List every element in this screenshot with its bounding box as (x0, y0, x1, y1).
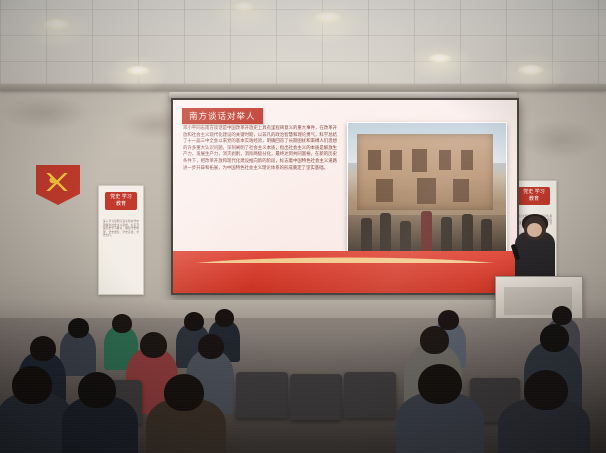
slide-gold-wave (173, 237, 517, 263)
slide-title: 南方谈话对举人 (182, 108, 263, 124)
hammer-sickle-icon (46, 173, 68, 191)
ceiling-light-6 (233, 2, 255, 11)
photo-scene: 党史 学习教育 深入学习贯彻习近平新时代中国特色社会主义思想，扎实开展党史学习教… (0, 0, 606, 453)
slide-photo-building (357, 134, 493, 211)
student-3b-head (418, 364, 462, 404)
slide: 南方谈话对举人 邓小平同志南方谈话是中国改革开放史上具有里程碑意义的重大事件，在… (173, 100, 517, 293)
presenter-face (527, 223, 542, 237)
poster-left-1: 党史 学习教育 深入学习贯彻习近平新时代中国特色社会主义思想，扎实开展党史学习教… (98, 185, 144, 295)
ceiling-light-5 (518, 65, 544, 75)
ceiling-light-1 (44, 19, 70, 30)
slide-body-text: 邓小平同志南方谈话是中国改革开放史上具有里程碑意义的重大事件，在改革开放和社会主… (183, 126, 337, 172)
student-5-head (215, 309, 234, 327)
slide-photo (347, 122, 507, 256)
ceiling-light-4 (428, 54, 452, 63)
slide-photo-window (368, 150, 380, 170)
student-12-head (164, 374, 204, 411)
student-13-head (12, 366, 52, 404)
student-4-head (140, 332, 167, 358)
slide-photo-window (376, 179, 392, 202)
slide-photo-window (453, 179, 469, 202)
student-14b-head (524, 370, 568, 410)
student-9-head (78, 372, 116, 408)
student-14-head (552, 306, 572, 325)
projection-screen: 南方谈话对举人 邓小平同志南方谈话是中国改革开放史上具有里程碑意义的重大事件，在… (171, 98, 519, 295)
slide-photo-window (461, 150, 473, 170)
slide-photo-window (439, 150, 451, 170)
student-3-head (68, 318, 89, 338)
wall-stain-3 (0, 96, 90, 130)
chair-1 (236, 372, 288, 418)
student-7-head (184, 312, 204, 331)
poster-right-2-header: 党史 学习教育 (518, 187, 550, 205)
slide-photo-window (417, 178, 436, 204)
chair-3 (344, 372, 396, 418)
chair-2 (290, 374, 342, 420)
student-2-head (112, 314, 132, 333)
student-10-head (420, 326, 449, 354)
student-11-head (540, 324, 569, 352)
poster-left-1-body: 深入学习贯彻习近平新时代中国特色社会主义思想，扎实开展党史学习教育，做到学史明理… (103, 220, 139, 238)
student-1-head (30, 336, 56, 361)
student-6-head (198, 334, 224, 359)
poster-left-1-header: 党史 学习教育 (105, 192, 137, 210)
ceiling-light-3 (314, 12, 342, 23)
wall-stain-2 (520, 120, 600, 160)
slide-photo-window (412, 149, 427, 172)
slide-photo-window (390, 150, 402, 170)
ceiling-light-2 (126, 66, 150, 75)
